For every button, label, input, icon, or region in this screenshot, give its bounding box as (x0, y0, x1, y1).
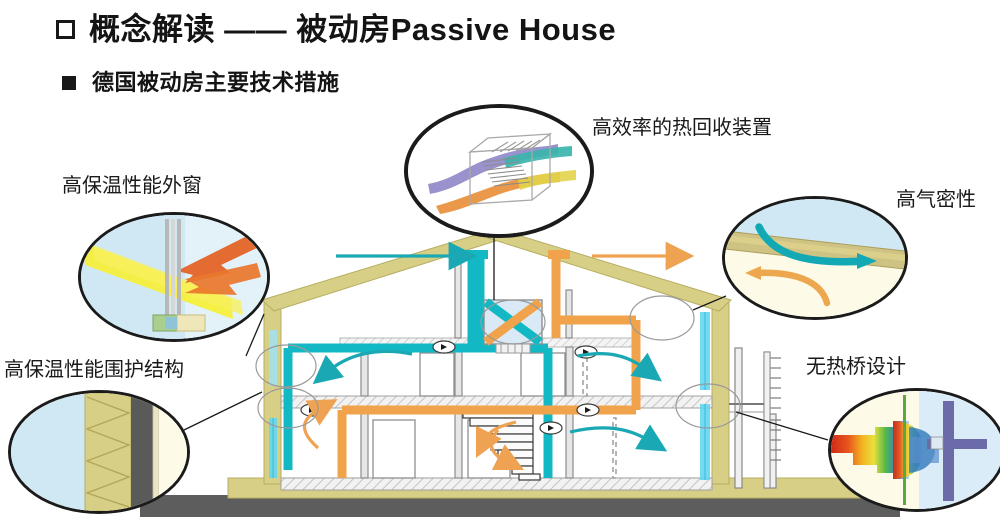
callout-label-window: 高保温性能外窗 (62, 176, 202, 196)
callout-label-bridge: 无热桥设计 (806, 357, 906, 377)
return-duct-elbow (548, 250, 570, 259)
callout-envelope[interactable] (8, 390, 190, 514)
roof-right-slope (488, 230, 731, 311)
callout-label-airtight: 高气密性 (896, 190, 976, 210)
wall-assembly-icon (11, 393, 187, 511)
staircase (463, 410, 540, 480)
interior-partitions (361, 260, 573, 478)
return-air-duct (342, 254, 636, 478)
ground-floor-slab (281, 478, 712, 490)
callout-label-hrv: 高效率的热回收装置 (592, 118, 772, 138)
insulated-window-icon (81, 215, 267, 339)
callout-hrv[interactable] (404, 104, 594, 238)
thermal-bridge-icon (831, 391, 1000, 509)
callout-airtight[interactable] (722, 196, 908, 320)
callout-window[interactable] (78, 212, 270, 342)
supply-duct-elbow (466, 250, 488, 259)
air-tightness-icon (725, 199, 905, 317)
heat-recovery-unit-icon (408, 108, 590, 234)
callout-bridge[interactable] (828, 388, 1000, 512)
slide-canvas: 概念解读 —— 被动房Passive House 德国被动房主要技术措施 (0, 0, 1000, 529)
right-exterior-wall (712, 302, 729, 484)
callout-label-envelope: 高保温性能围护结构 (4, 360, 184, 380)
